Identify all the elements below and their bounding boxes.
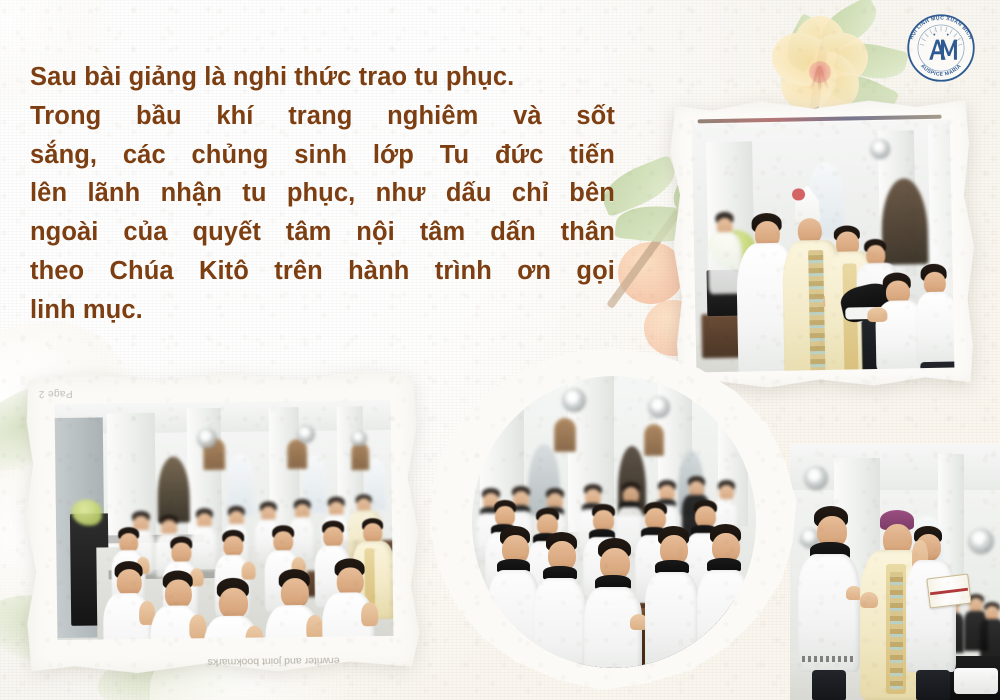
paper-strip-text: erwriter and joint bookmarks	[208, 655, 340, 669]
headline-line: linh mục.	[30, 291, 615, 330]
headline-line: lênlãnhnhậntuphục,nhưdấuchỉbên	[30, 174, 615, 213]
photo-seminarians-in-surplices	[428, 348, 800, 690]
logo-dot-right	[947, 34, 949, 36]
photo-kneeling-seminarians: Page 2 erwriter and joint bookmarks	[24, 370, 420, 675]
white-vestment-foreground	[954, 668, 998, 694]
headline-line: ngoàicủaquyếttâmnộitâmdấnthân	[30, 213, 615, 252]
page-title: Sau bài giảng là nghi thức trao tu phục.…	[30, 58, 615, 329]
photo-image	[472, 376, 756, 668]
photo-image	[790, 444, 1000, 700]
photo-image	[55, 400, 394, 640]
photo-bishop-blessing	[790, 444, 1000, 700]
photo-image	[692, 120, 955, 373]
organization-logo: HỘI LINH MỤC XUÂN BÍCH AUSPICE MARIA	[899, 6, 983, 90]
logo-dot-left	[933, 34, 935, 36]
headline-line: Sau bài giảng là nghi thức trao tu phục.	[30, 58, 615, 97]
headline-line: theoChúaKitôtrênhànhtrìnhơngọi	[30, 252, 615, 291]
poster-canvas: Sau bài giảng là nghi thức trao tu phục.…	[0, 0, 1000, 700]
surplice-lace-trim	[802, 656, 856, 662]
photo-vesting-ceremony	[669, 97, 976, 391]
page-marker-note: Page 2	[38, 388, 72, 399]
headline-line: Trongbầukhítrangnghiêmvàsốt	[30, 97, 615, 136]
headline-line: sắng,cácchủngsinhlớpTuđứctiến	[30, 136, 615, 175]
